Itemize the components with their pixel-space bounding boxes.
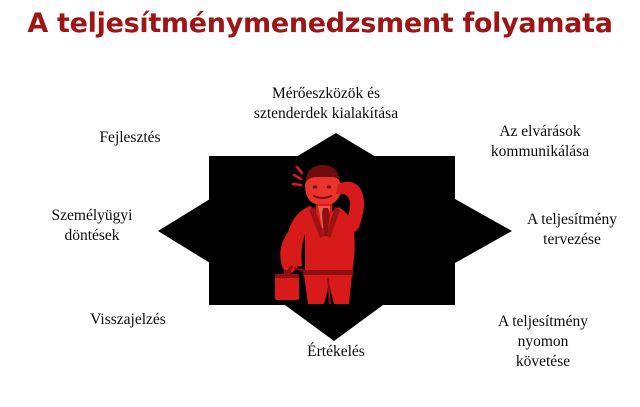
label-left-line1: Személyügyi	[22, 206, 162, 226]
label-bottom-right-line2: nyomon	[460, 332, 626, 352]
label-bottom-left: Visszajelzés	[48, 310, 208, 330]
label-top-right-line1: Az elvárások	[452, 122, 628, 142]
label-top-line1: Mérőeszközök és	[226, 84, 426, 104]
arrow-left-icon	[158, 199, 210, 263]
label-top-left: Fejlesztés	[60, 128, 200, 148]
label-top-left-text: Fejlesztés	[60, 128, 200, 148]
arrow-up-icon	[296, 133, 376, 157]
label-top-right: Az elvárások kommunikálása	[452, 122, 628, 162]
label-left-line2: döntések	[22, 226, 162, 246]
label-right-line2: tervezése	[504, 230, 640, 250]
label-bottom-left-text: Visszajelzés	[48, 310, 208, 330]
businessman-illustration-icon	[209, 156, 455, 305]
label-bottom-right-line3: követése	[460, 352, 626, 372]
label-top-right-line2: kommunikálása	[452, 142, 628, 162]
page-title: A teljesítménymenedzsment folyamata	[0, 8, 640, 39]
label-bottom: Értékelés	[256, 342, 416, 362]
label-top: Mérőeszközök és sztenderdek kialakítása	[226, 84, 426, 124]
center-illustration	[209, 156, 455, 305]
label-right: A teljesítmény tervezése	[504, 210, 640, 250]
label-top-line2: sztenderdek kialakítása	[226, 104, 426, 124]
label-bottom-text: Értékelés	[256, 342, 416, 362]
label-bottom-right: A teljesítmény nyomon követése	[460, 312, 626, 371]
arrow-down-icon	[285, 305, 383, 341]
label-right-line1: A teljesítmény	[504, 210, 640, 230]
slide-canvas: A teljesítménymenedzsment folyamata	[0, 0, 640, 407]
label-left: Személyügyi döntések	[22, 206, 162, 246]
label-bottom-right-line1: A teljesítmény	[460, 312, 626, 332]
